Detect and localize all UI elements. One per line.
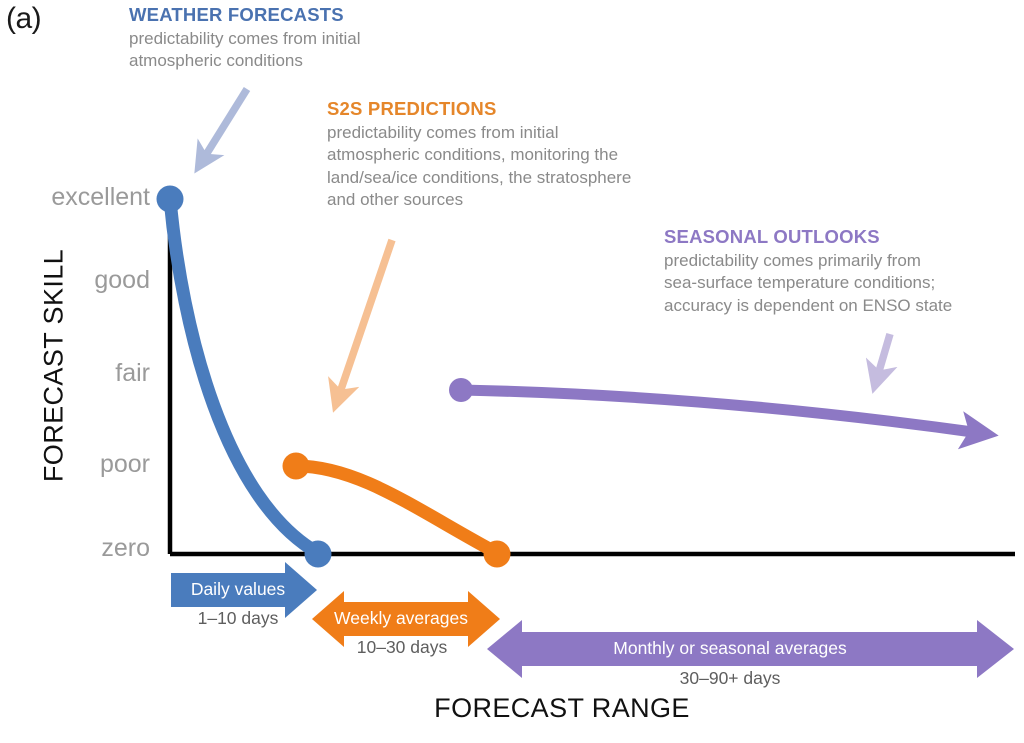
s2s-start-marker (283, 453, 310, 480)
s2s-curve (296, 466, 497, 553)
annotation-weather-forecasts: WEATHER FORECASTS predictability comes f… (129, 4, 360, 73)
weather-curve (170, 199, 318, 553)
seasonal-start-marker (449, 378, 473, 402)
annotation-weather-line-1: predictability comes from initial (129, 28, 360, 50)
annotation-weather-line-2: atmospheric conditions (129, 50, 360, 72)
annotation-s2s-predictions: S2S PREDICTIONS predictability comes fro… (327, 98, 631, 211)
series-weather-forecasts (157, 186, 332, 568)
y-tick-zero: zero (0, 534, 150, 563)
weather-start-marker (157, 186, 184, 213)
annotation-s2s-line-3: land/sea/ice conditions, the stratospher… (327, 167, 631, 189)
annotation-weather-title: WEATHER FORECASTS (129, 4, 360, 26)
weather-annotation-arrow (199, 89, 247, 166)
seasonal-curve (461, 390, 980, 433)
annotation-seasonal-line-2: sea-surface temperature conditions; (664, 272, 952, 294)
y-tick-fair: fair (0, 359, 150, 388)
range-bar-daily-label: Daily values (183, 579, 293, 600)
x-axis-title: FORECAST RANGE (312, 693, 812, 724)
annotation-s2s-line-2: atmospheric conditions, monitoring the (327, 144, 631, 166)
range-bar-seasonal-duration: 30–90+ days (630, 668, 830, 689)
s2s-end-marker (484, 541, 511, 568)
annotation-s2s-line-4: and other sources (327, 189, 631, 211)
annotation-s2s-title: S2S PREDICTIONS (327, 98, 631, 120)
range-bar-daily-duration: 1–10 days (176, 608, 300, 629)
s2s-annotation-arrow (336, 240, 392, 404)
range-bar-weekly-label: Weekly averages (325, 608, 477, 629)
range-bar-weekly-duration: 10–30 days (332, 637, 472, 658)
y-tick-good: good (0, 266, 150, 295)
annotation-seasonal-title: SEASONAL OUTLOOKS (664, 226, 952, 248)
series-seasonal-outlooks (449, 378, 980, 433)
y-axis-title: FORECAST SKILL (39, 246, 70, 486)
annotation-seasonal-line-3: accuracy is dependent on ENSO state (664, 295, 952, 317)
range-bar-seasonal-label: Monthly or seasonal averages (565, 638, 895, 659)
y-tick-excellent: excellent (0, 183, 150, 212)
annotation-seasonal-line-1: predictability comes primarily from (664, 250, 952, 272)
y-tick-poor: poor (0, 450, 150, 479)
weather-end-marker (305, 541, 332, 568)
annotation-seasonal-outlooks: SEASONAL OUTLOOKS predictability comes p… (664, 226, 952, 317)
y-axis-tick-labels: excellent good fair poor zero (0, 0, 150, 743)
forecast-skill-diagram: (a) excellent good fair poor zero FORECA… (0, 0, 1024, 743)
seasonal-annotation-arrow (875, 334, 890, 385)
annotation-s2s-line-1: predictability comes from initial (327, 122, 631, 144)
